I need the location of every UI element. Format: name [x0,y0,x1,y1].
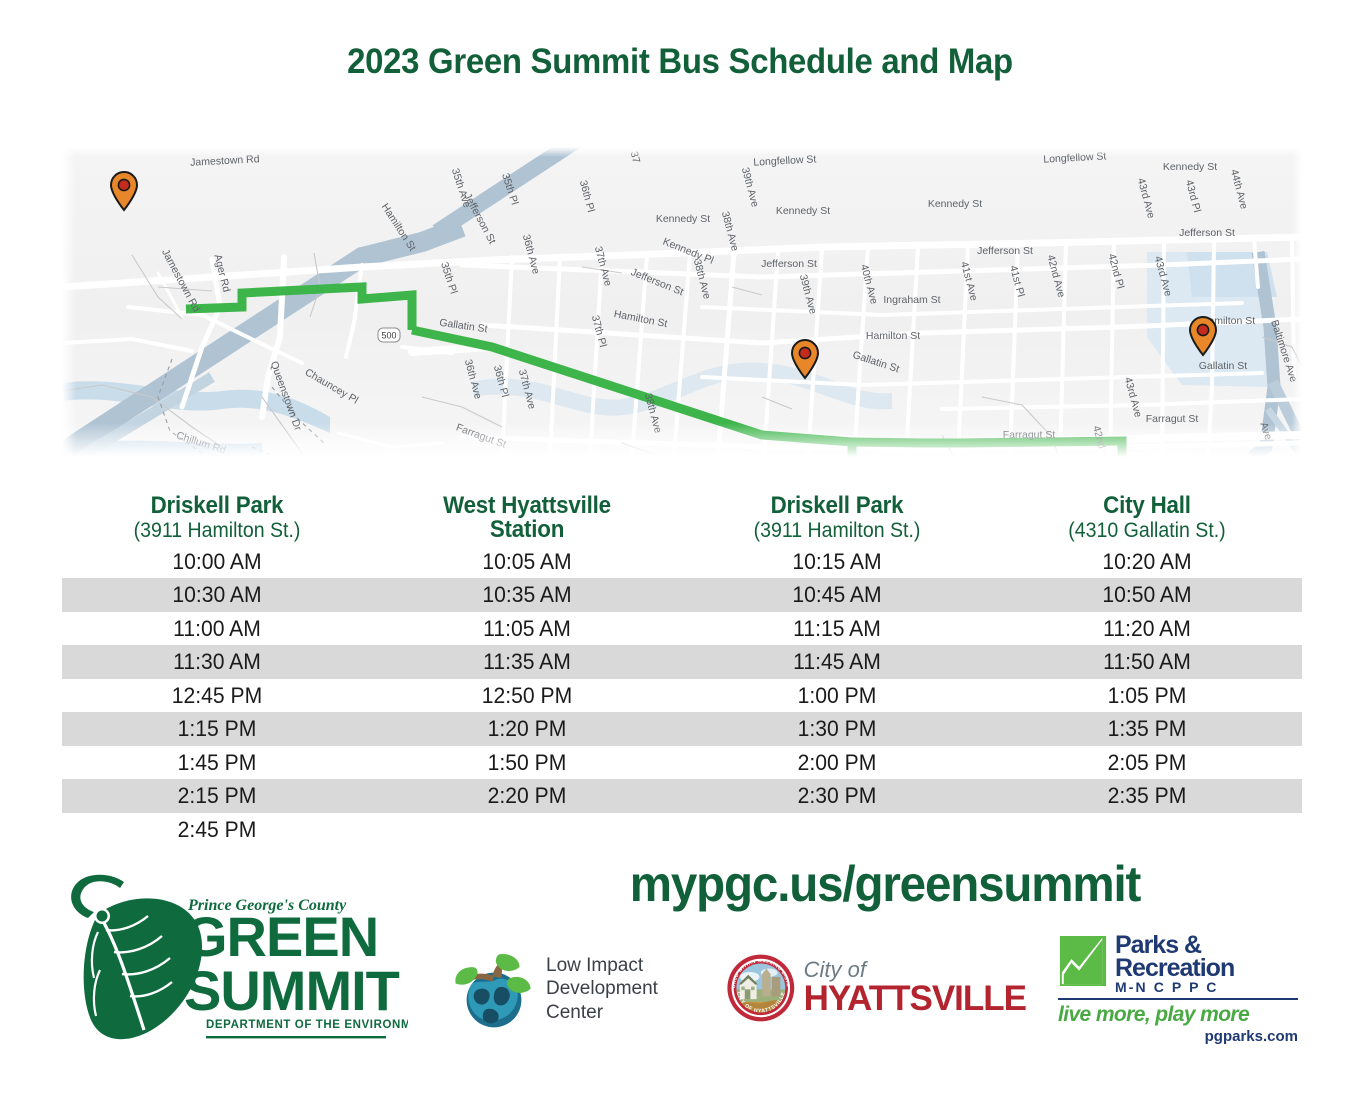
schedule-time-cell: 12:45 PM [68,683,366,709]
schedule-time-cell: 10:30 AM [68,582,366,608]
table-row: 2:45 PM [62,813,1302,847]
highway-shield-500: 500 [378,328,400,342]
green-summit-line2: SUMMIT [184,959,400,1022]
schedule-time-cell: 11:45 AM [688,649,986,675]
schedule-time-cell: 2:30 PM [688,783,986,809]
lid-line-2: Development [546,977,658,1000]
hyattsville-city-of-label: City of [804,959,1026,981]
schedule-time-cell: 1:15 PM [68,716,366,742]
parks-rec-wordmark: Parks & Recreation M-N C P P C [1115,934,1234,994]
hyattsville-seal-icon: A WORLD WITHIN WALKING DISTANCE CITY OF … [726,941,796,1035]
schedule-time-cell: 2:45 PM [68,817,366,843]
schedule-time-cell: 2:05 PM [998,750,1296,776]
hyattsville-text-block: City of HYATTSVILLE [804,959,1026,1016]
low-impact-text-block: Low Impact Development Center [546,954,658,1024]
street-label: Jefferson St [761,258,817,270]
table-row: 11:00 AM11:05 AM11:15 AM11:20 AM [62,612,1302,646]
street-label: Kennedy St [1163,161,1217,173]
leaf-icon [71,875,202,1039]
schedule-column-address: (3911 Hamilton St.) [73,520,361,541]
green-summit-logo: Prince George's County GREEN SUMMIT DEPA… [58,870,408,1048]
schedule-time-cell: 11:20 AM [998,616,1296,642]
street-label: Gallatin St [1199,360,1248,372]
schedule-time-cell: 1:45 PM [68,750,366,776]
schedule-time-cell: 1:50 PM [378,750,676,776]
schedule-header-row: Driskell Park(3911 Hamilton St.)West Hya… [62,494,1302,545]
schedule-time-cell: 11:35 AM [378,649,676,675]
schedule-column-title: City Hall [1003,494,1291,518]
parks-rec-website[interactable]: pgparks.com [1058,1028,1298,1045]
globe-plant-icon [452,947,536,1031]
schedule-time-cell: 11:30 AM [68,649,366,675]
green-summit-department-label: DEPARTMENT OF THE ENVIRONMENT [206,1019,408,1031]
schedule-time-cell: 10:15 AM [688,549,986,575]
schedule-column-title: Driskell Park [73,494,361,518]
schedule-column-header: West Hyattsville Station [372,494,682,543]
map-canvas: 500 1 Jamestown RdJamestown RdAger RdCha… [62,147,1302,457]
schedule-time-cell: 11:15 AM [688,616,986,642]
schedule-time-cell: 1:05 PM [998,683,1296,709]
table-row: 11:30 AM11:35 AM11:45 AM11:50 AM [62,645,1302,679]
schedule-column-title: Driskell Park [693,494,981,518]
street-label: Jefferson St [1179,227,1235,239]
schedule-column-title: West Hyattsville Station [383,494,671,543]
lid-line-3: Center [546,1001,658,1024]
schedule-time-cell: 2:35 PM [998,783,1296,809]
street-label: Kennedy St [776,205,830,217]
bus-schedule-table: Driskell Park(3911 Hamilton St.)West Hya… [62,494,1302,846]
table-row: 1:15 PM1:20 PM1:30 PM1:35 PM [62,712,1302,746]
schedule-time-cell: 10:45 AM [688,582,986,608]
schedule-time-cell: 2:20 PM [378,783,676,809]
parks-rec-divider [1058,998,1298,1000]
street-label: Kennedy St [928,198,982,210]
schedule-time-cell: 10:20 AM [998,549,1296,575]
street-label: Kennedy St [656,213,710,225]
page-title: 2023 Green Summit Bus Schedule and Map [41,42,1319,82]
table-row: 10:00 AM10:05 AM10:15 AM10:20 AM [62,545,1302,579]
lid-line-1: Low Impact [546,954,658,977]
schedule-body: 10:00 AM10:05 AM10:15 AM10:20 AM10:30 AM… [62,545,1302,847]
hyattsville-name-label: HYATTSVILLE [804,981,1026,1016]
website-url[interactable]: mypgc.us/greensummit [586,855,1185,913]
bus-route-map[interactable]: 500 1 Jamestown RdJamestown RdAger RdCha… [62,147,1302,457]
city-of-hyattsville-logo: A WORLD WITHIN WALKING DISTANCE CITY OF … [726,935,1026,1040]
table-row: 10:30 AM10:35 AM10:45 AM10:50 AM [62,578,1302,612]
green-summit-logo-svg: Prince George's County GREEN SUMMIT DEPA… [58,870,408,1048]
mncppc-mark-icon [1058,934,1108,988]
schedule-column-address: (3911 Hamilton St.) [693,520,981,541]
schedule-column-header: Driskell Park(3911 Hamilton St.) [62,494,372,543]
parks-and-recreation-logo: Parks & Recreation M-N C P P C live more… [1058,934,1298,1044]
low-impact-development-center-logo: Low Impact Development Center [452,940,702,1038]
schedule-column-header: Driskell Park(3911 Hamilton St.) [682,494,992,543]
street-label: Farragut St [1003,429,1056,441]
parks-rec-tagline: live more, play more [1058,1003,1298,1027]
street-label: Jefferson St [977,245,1033,257]
table-row: 1:45 PM1:50 PM2:00 PM2:05 PM [62,746,1302,780]
parks-rec-line2: Recreation [1115,957,1234,980]
parks-rec-mncppc: M-N C P P C [1115,981,1234,994]
street-label: Hamilton St [866,330,920,342]
schedule-time-cell: 10:00 AM [68,549,366,575]
schedule-time-cell: 11:50 AM [998,649,1296,675]
schedule-time-cell: 2:00 PM [688,750,986,776]
street-label: Farragut St [1146,413,1199,425]
schedule-time-cell: 1:20 PM [378,716,676,742]
schedule-time-cell: 11:00 AM [68,616,366,642]
table-row: 12:45 PM12:50 PM1:00 PM1:05 PM [62,679,1302,713]
schedule-time-cell: 1:35 PM [998,716,1296,742]
schedule-time-cell: 10:05 AM [378,549,676,575]
table-row: 2:15 PM2:20 PM2:30 PM2:35 PM [62,779,1302,813]
schedule-time-cell: 10:50 AM [998,582,1296,608]
schedule-column-header: City Hall(4310 Gallatin St.) [992,494,1302,543]
svg-text:500: 500 [381,331,396,341]
street-label: Ingraham St [883,294,940,306]
schedule-time-cell: 10:35 AM [378,582,676,608]
schedule-time-cell: 1:30 PM [688,716,986,742]
schedule-column-address: (4310 Gallatin St.) [1003,520,1291,541]
schedule-time-cell: 1:00 PM [688,683,986,709]
logo-underline [206,1036,386,1038]
schedule-time-cell: 2:15 PM [68,783,366,809]
schedule-time-cell: 11:05 AM [378,616,676,642]
schedule-time-cell: 12:50 PM [378,683,676,709]
